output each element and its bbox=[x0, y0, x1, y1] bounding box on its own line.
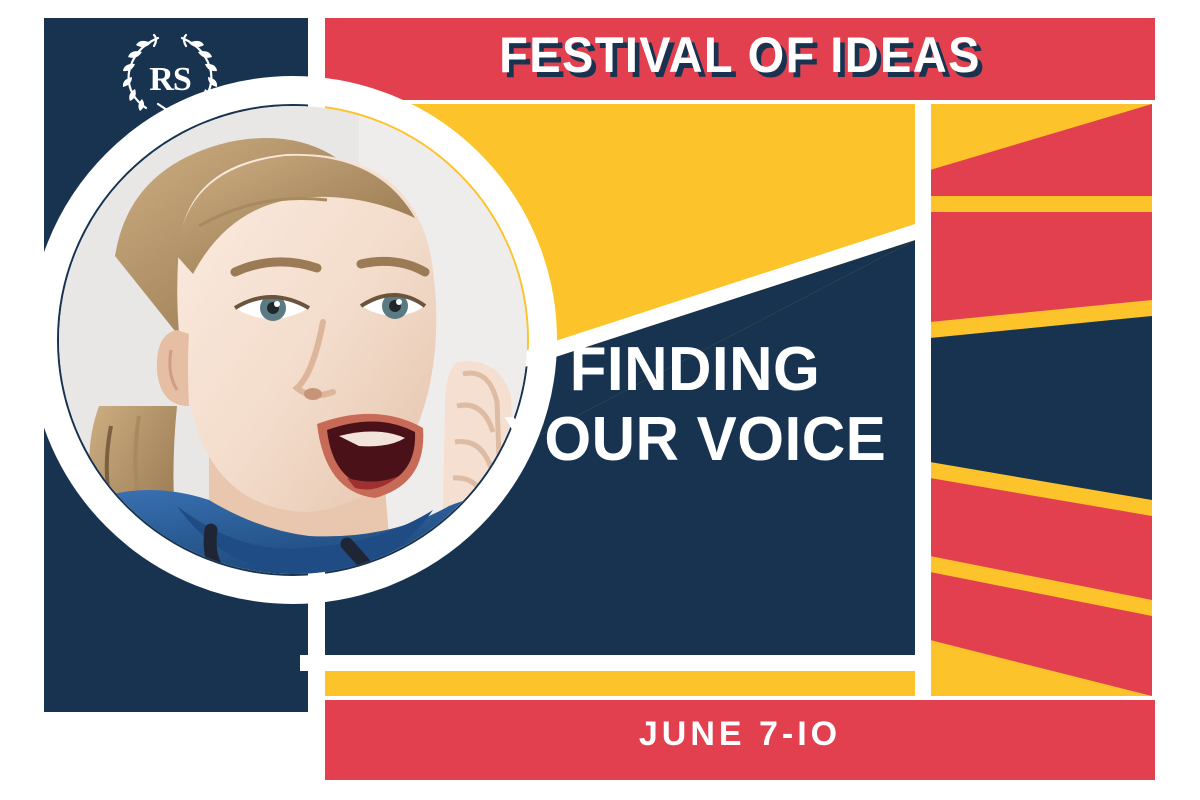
laurel-wreath-monogram-logo: RS bbox=[118, 32, 222, 116]
logo-monogram-text: RS bbox=[149, 61, 191, 98]
speaker-photo bbox=[59, 106, 527, 574]
margin-bottom bbox=[0, 780, 1200, 800]
poster-canvas: RS FESTIVAL OF IDEAS FINDING YOUR VOICE … bbox=[0, 0, 1200, 800]
headline-line-1: FINDING bbox=[477, 335, 914, 405]
margin-left bbox=[0, 0, 44, 800]
ray-divider bbox=[915, 104, 931, 696]
margin-top bbox=[0, 0, 1200, 18]
speaker-photo-illustration bbox=[59, 106, 527, 574]
laurel-crossed-stems bbox=[158, 104, 182, 116]
headline-line-2: YOUR VOICE bbox=[477, 405, 914, 475]
gap-under-top-bar bbox=[325, 100, 1155, 104]
headline: FINDING YOUR VOICE bbox=[477, 335, 914, 475]
event-date: JUNE 7-IO bbox=[325, 714, 1155, 754]
megaphone-bottom-gap bbox=[300, 655, 915, 671]
gap-above-bottom-bar bbox=[325, 696, 1155, 700]
festival-title: FESTIVAL OF IDEAS bbox=[350, 26, 1130, 84]
nostril bbox=[304, 388, 322, 400]
margin-right bbox=[1155, 0, 1200, 800]
